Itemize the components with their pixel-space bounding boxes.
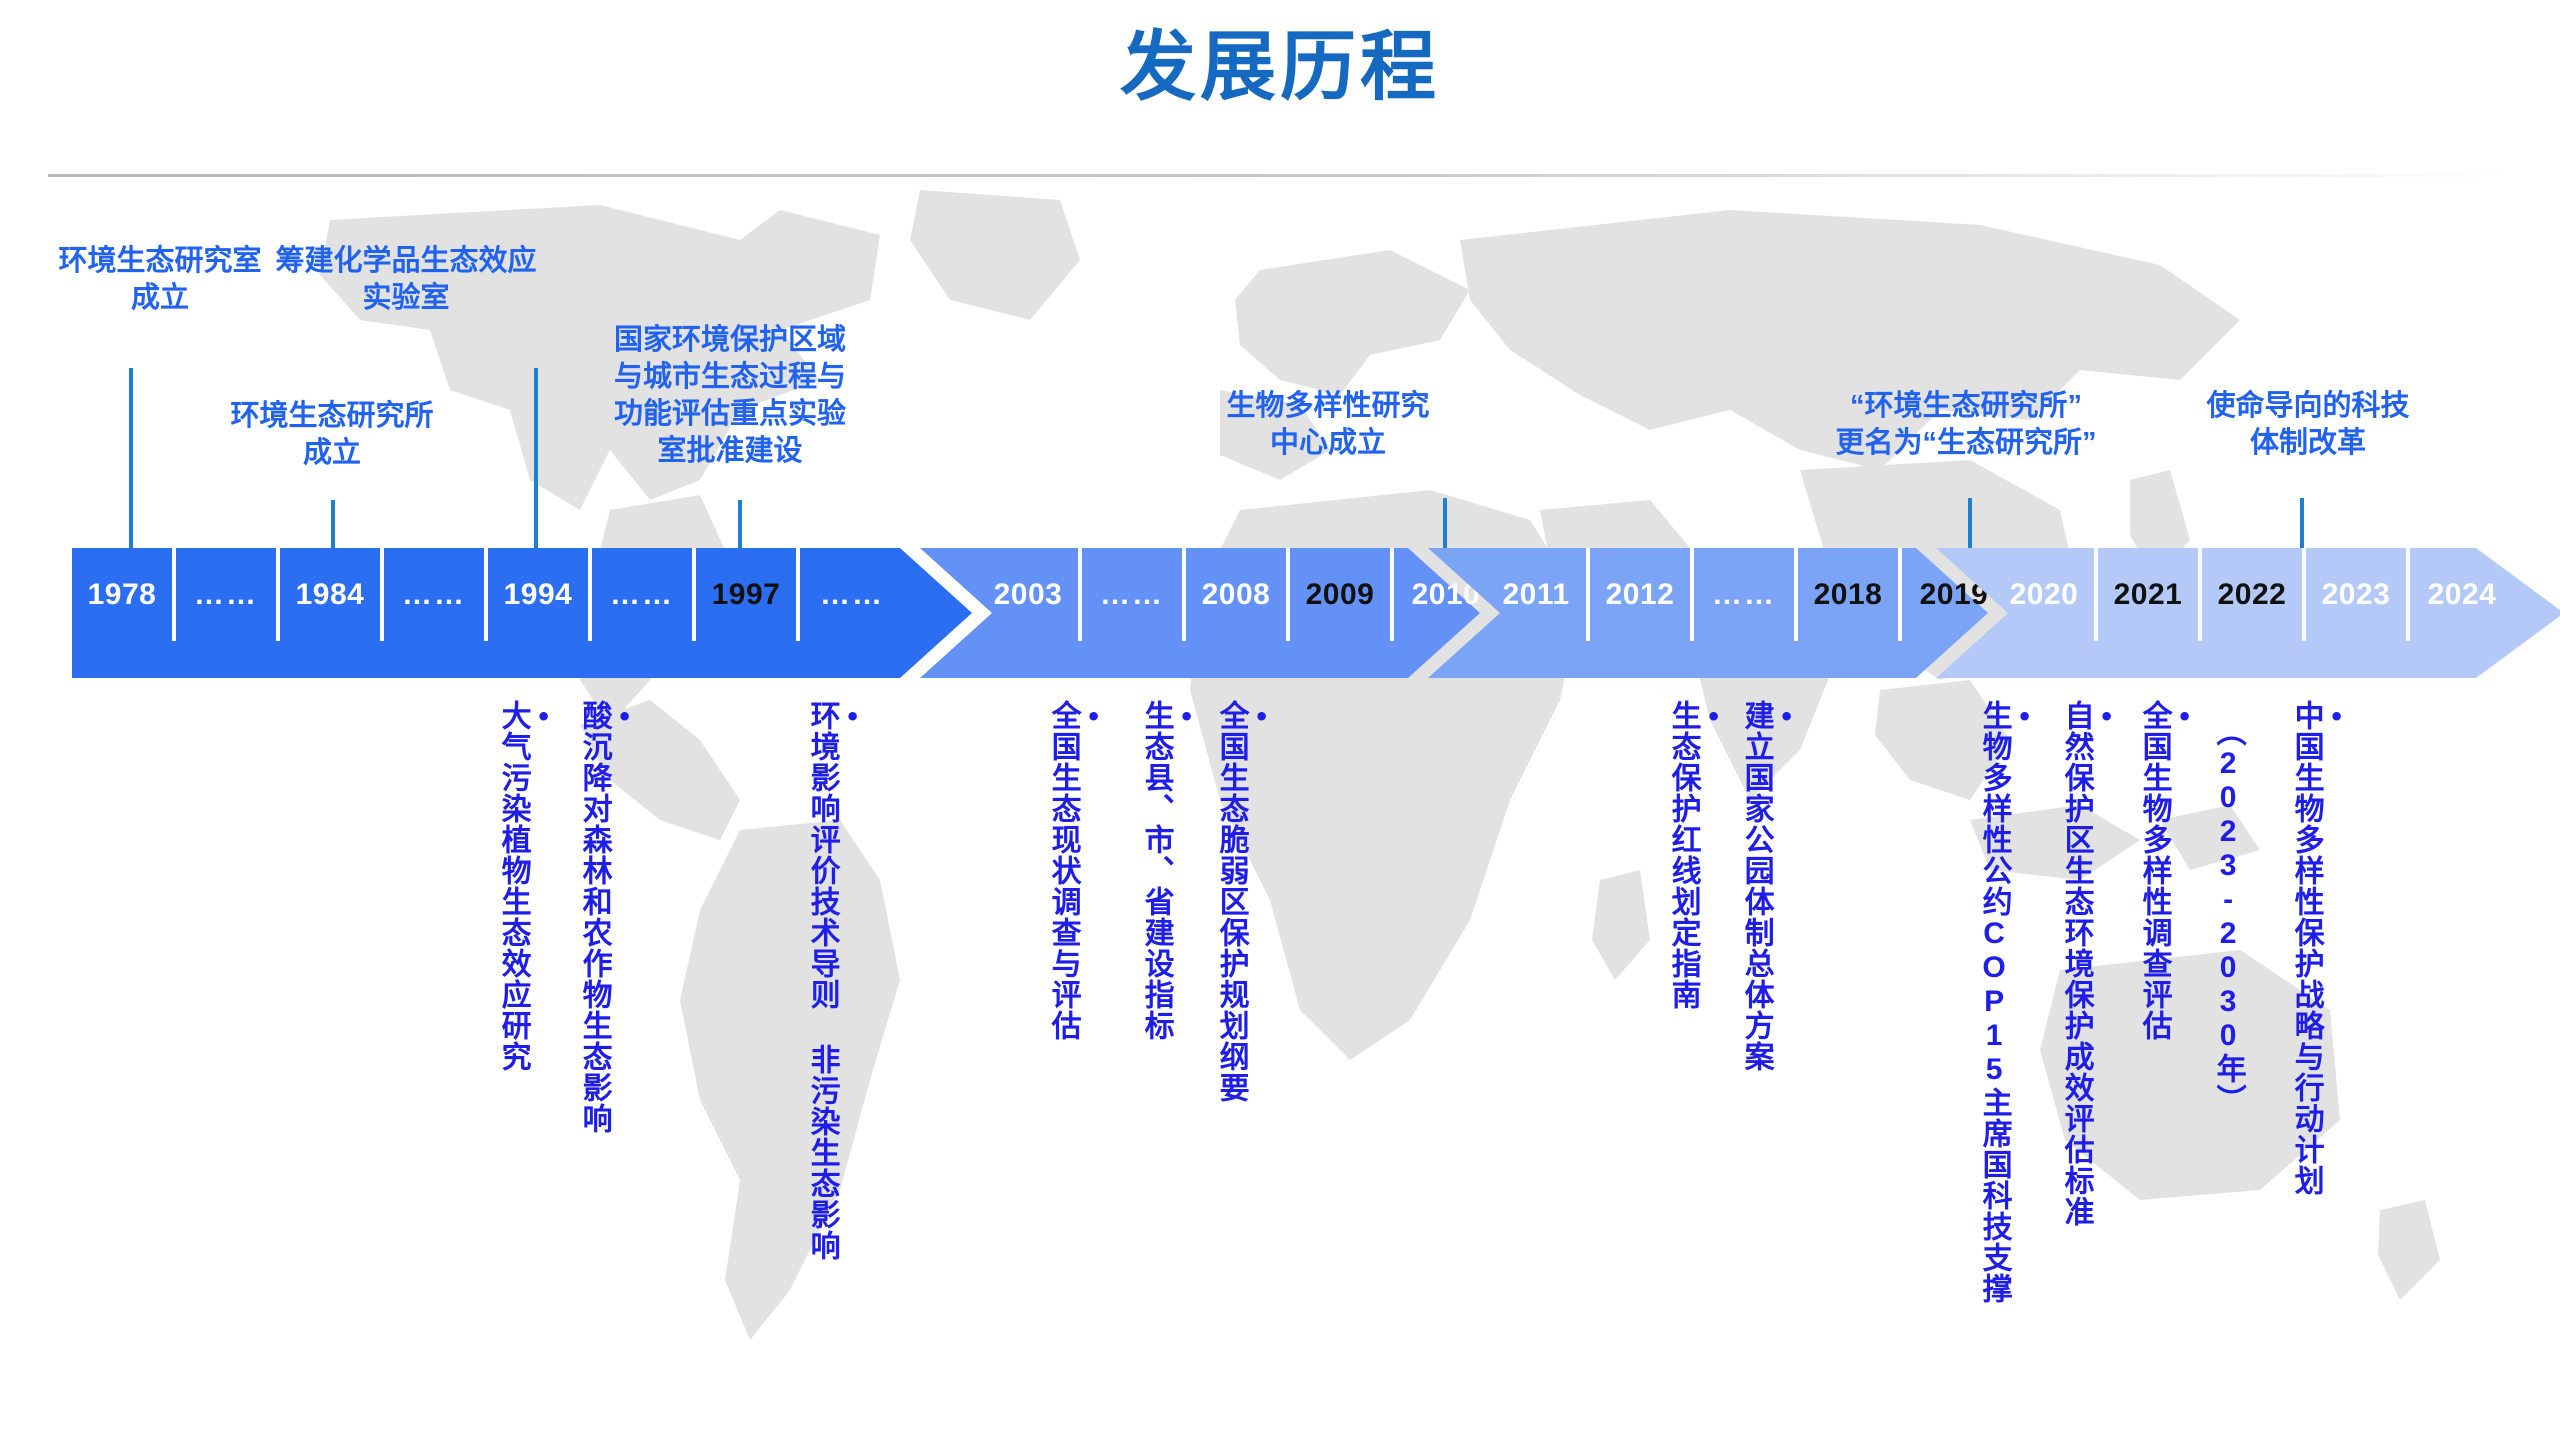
stem-2009 [1443,498,1447,548]
timeline-cell[interactable]: 1978 [72,548,176,641]
bullet-icon: • [2091,700,2122,1223]
bullet-icon: • [609,700,640,1130]
timeline-segment-phase-1: 1978 …… 1984 …… 1994 …… 1997 …… [72,548,972,678]
vnote-nationalpark: •建立国家公园体制总体方案 [1740,700,1801,1072]
stem-1978 [129,368,133,548]
timeline-cell[interactable]: 2009 [1290,548,1394,641]
vnote-acid: •酸沉降对森林和农作物生态影响 [578,700,639,1134]
vnote-bdsurvey: •全国生物多样性调查评估 [2138,700,2199,1041]
timeline-cell[interactable]: 2021 [2098,548,2202,641]
bullet-icon: • [1078,700,1109,1037]
vnote-fragile: •全国生态脆弱区保护规划纲要 [1215,700,1276,1103]
timeline-cell[interactable]: …… [384,548,488,641]
cells-phase-2: 2003 …… 2008 2009 2010 [978,548,1498,641]
stem-1984 [331,500,335,548]
bullet-icon: • [528,700,559,1068]
vnote-strategy-years: （2023-2030年） [2212,716,2243,1115]
bullet-icon: • [2009,700,2040,1300]
timeline-cell[interactable]: …… [800,548,904,641]
vnote-reserve: •自然保护区生态环境保护成效评估标准 [2060,700,2121,1227]
timeline-cell[interactable]: 2024 [2410,548,2514,641]
stem-1994 [534,368,538,548]
vnote-eia: •环境影响评价技术导则 非污染生态影响 [806,700,867,1261]
bullet-icon: • [2169,700,2200,1037]
timeline-cell[interactable]: 2012 [1590,548,1694,641]
stem-2022 [2300,498,2304,548]
timeline-cell[interactable]: …… [1694,548,1798,641]
vnote-redline: •生态保护红线划定指南 [1667,700,1728,1010]
vnote-indicator: •生态县、市、省建设指标 [1140,700,1201,1041]
top-note-2019: “环境生态研究所” 更名为“生态研究所” [1756,388,2176,462]
vnote-atmos: •大气污染植物生态效应研究 [497,700,558,1072]
timeline-cell[interactable]: 2020 [1994,548,2098,641]
slide-canvas: 发展历程 环境生态研究室 成立 环境生态研究所 成立 筹建化学品生态效应 实验室… [0,0,2560,1440]
bullet-icon: • [1171,700,1202,1037]
timeline-cell[interactable]: 2022 [2202,548,2306,641]
page-title: 发展历程 [0,30,2560,106]
cells-phase-1: 1978 …… 1984 …… 1994 …… 1997 …… [72,548,904,641]
timeline-cell[interactable]: 2023 [2306,548,2410,641]
vnote-cop15: •生物多样性公约COP15主席国科技支撑 [1978,700,2039,1304]
timeline-cell[interactable]: …… [176,548,280,641]
bullet-icon: • [1698,700,1729,1006]
timeline-segment-phase-4: 2020 2021 2022 2023 2024 [1936,548,2560,678]
timeline-cell[interactable]: 2008 [1186,548,1290,641]
timeline-segment-phase-2: 2003 …… 2008 2009 2010 [920,548,1480,678]
cells-phase-3: 2011 2012 …… 2018 2019 [1486,548,2006,641]
top-note-2009: 生物多样性研究 中心成立 [1158,388,1498,462]
timeline-cell[interactable]: …… [592,548,696,641]
bullet-icon: • [1246,700,1277,1099]
top-note-1984: 环境生态研究所 成立 [182,398,482,472]
bullet-icon: • [837,700,868,1257]
timeline-cell[interactable]: …… [1082,548,1186,641]
cells-phase-4: 2020 2021 2022 2023 2024 [1994,548,2514,641]
vnote-strategy: •中国生物多样性保护战略与行动计划 [2290,700,2351,1196]
stem-1997 [738,500,742,548]
top-note-1997: 国家环境保护区域 与城市生态过程与 功能评估重点实验 室批准建设 [560,322,900,470]
stem-2019 [1968,498,1972,548]
timeline-cell[interactable]: 1984 [280,548,384,641]
timeline-band: 1978 …… 1984 …… 1994 …… 1997 …… 2003 …… … [0,548,2560,678]
timeline-cell[interactable]: 2003 [978,548,1082,641]
timeline-cell[interactable]: 1997 [696,548,800,641]
timeline-cell[interactable]: 2018 [1798,548,1902,641]
timeline-cell[interactable]: 2011 [1486,548,1590,641]
top-note-2022: 使命导向的科技 体制改革 [2148,388,2468,462]
timeline-segment-phase-3: 2011 2012 …… 2018 2019 [1428,548,1988,678]
title-divider [48,174,2512,177]
vnote-survey: •全国生态现状调查与评估 [1047,700,1108,1041]
top-note-1994: 筹建化学品生态效应 实验室 [231,243,581,317]
timeline-cell[interactable]: 1994 [488,548,592,641]
bullet-icon: • [2321,700,2352,1192]
bullet-icon: • [1771,700,1802,1068]
